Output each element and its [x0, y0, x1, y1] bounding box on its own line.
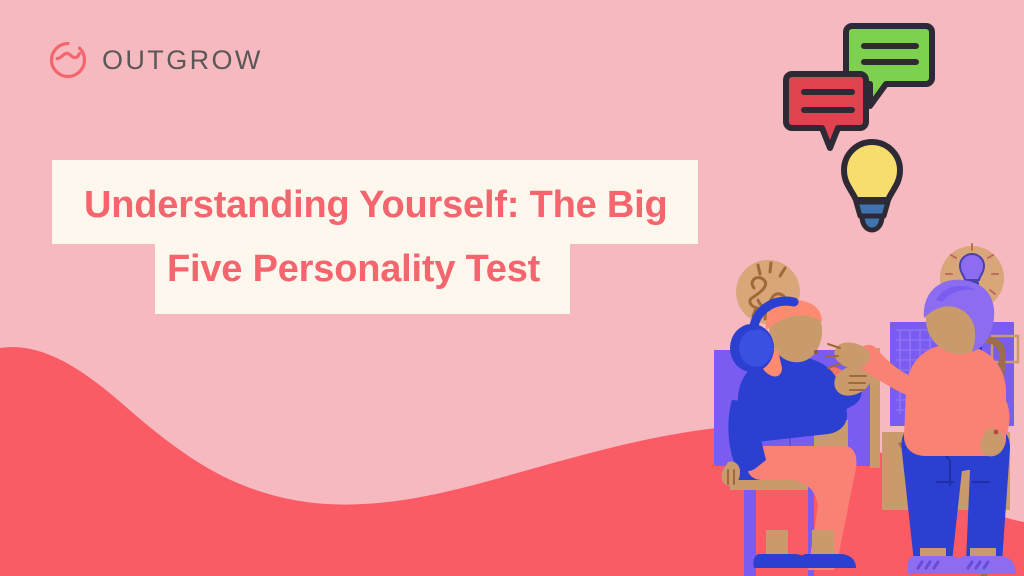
- hero-illustration: [704, 0, 1024, 576]
- yellow-lightbulb-icon: [844, 142, 900, 230]
- red-speech-bubble: [786, 74, 866, 148]
- seated-person-shoe-right: [799, 554, 856, 568]
- page-title-line-1: Understanding Yourself: The Big: [52, 160, 698, 244]
- outgrow-circle-logo-icon: [48, 40, 88, 80]
- brand-logo[interactable]: OUTGROW: [48, 40, 263, 80]
- page-title: Understanding Yourself: The Big Five Per…: [52, 160, 752, 314]
- page-title-line-2: Five Personality Test: [155, 244, 570, 314]
- blog-banner: OUTGROW Understanding Yourself: The Big …: [0, 0, 1024, 576]
- brand-wordmark: OUTGROW: [102, 47, 263, 74]
- hero-illustration-svg: [704, 0, 1024, 576]
